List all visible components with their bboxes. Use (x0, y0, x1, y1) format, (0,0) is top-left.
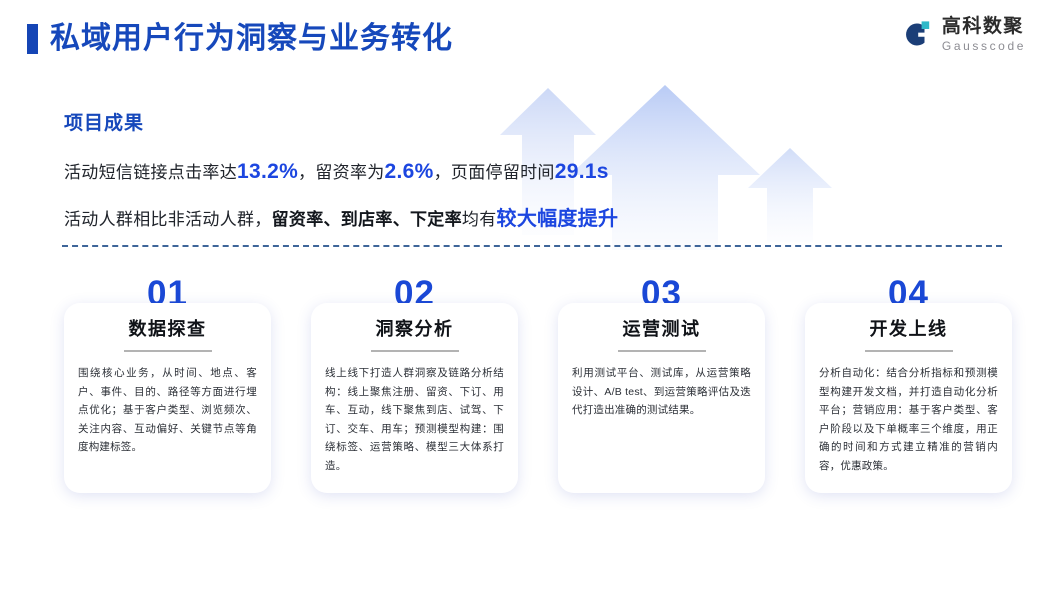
step-card-3[interactable]: 03 运营测试 利用测试平台、测试库，从运营策略设计、A/B test、到运营策… (558, 275, 765, 313)
logo-name-cn: 高科数聚 (942, 17, 1026, 36)
results-l1-text-3: ，页面停留时间 (434, 163, 555, 182)
metric-click-rate: 13.2% (237, 160, 298, 183)
slide-canvas: 私域用户行为洞察与业务转化 高科数聚 Gausscode 项目成果 活动短信链接… (0, 0, 1048, 591)
results-line-1: 活动短信链接点击率达13.2%，留资率为2.6%，页面停留时间29.1s (64, 157, 764, 188)
step-description-1: 围绕核心业务，从时间、地点、客户、事件、目的、路径等方面进行埋点优化；基于客户类… (78, 364, 257, 457)
step-description-4: 分析自动化：结合分析指标和预测模型构建开发文档，并打造自动化分析平台；营销应用：… (819, 364, 998, 475)
results-l1-text-2: ，留资率为 (298, 163, 385, 182)
step-title-4: 开发上线 (819, 317, 998, 341)
step-card-body-1[interactable]: 数据探查 围绕核心业务，从时间、地点、客户、事件、目的、路径等方面进行埋点优化；… (64, 303, 271, 493)
step-title-2: 洞察分析 (325, 317, 504, 341)
title-marker-icon (27, 24, 38, 54)
results-line-2: 活动人群相比非活动人群，留资率、到店率、下定率均有较大幅度提升 (64, 204, 764, 235)
step-card-body-3[interactable]: 运营测试 利用测试平台、测试库，从运营策略设计、A/B test、到运营策略评估… (558, 303, 765, 493)
step-card-body-4[interactable]: 开发上线 分析自动化：结合分析指标和预测模型构建开发文档，并打造自动化分析平台；… (805, 303, 1012, 493)
step-description-2: 线上线下打造人群洞察及链路分析结构：线上聚焦注册、留资、下订、用车、互动，线下聚… (325, 364, 504, 475)
step-title-rule-2 (371, 350, 459, 352)
step-card-1[interactable]: 01 数据探查 围绕核心业务，从时间、地点、客户、事件、目的、路径等方面进行埋点… (64, 275, 271, 313)
section-divider (62, 245, 1002, 247)
step-title-rule-4 (865, 350, 953, 352)
step-description-3: 利用测试平台、测试库，从运营策略设计、A/B test、到运营策略评估及迭代打造… (572, 364, 751, 420)
results-l2-text-2: 均有 (462, 210, 497, 229)
step-title-3: 运营测试 (572, 317, 751, 341)
results-heading: 项目成果 (64, 108, 764, 135)
brand-logo: 高科数聚 Gausscode (902, 17, 1026, 52)
step-title-rule-1 (124, 350, 212, 352)
logo-name-en: Gausscode (942, 40, 1026, 52)
page-title: 私域用户行为洞察与业务转化 (50, 19, 453, 59)
gausscode-logo-icon (902, 19, 933, 50)
results-l2-bold: 留资率、到店率、下定率 (272, 210, 462, 229)
results-l1-text-1: 活动短信链接点击率达 (64, 163, 237, 182)
step-card-2[interactable]: 02 洞察分析 线上线下打造人群洞察及链路分析结构：线上聚焦注册、留资、下订、用… (311, 275, 518, 313)
project-results-block: 项目成果 活动短信链接点击率达13.2%，留资率为2.6%，页面停留时间29.1… (64, 108, 764, 251)
step-card-4[interactable]: 04 开发上线 分析自动化：结合分析指标和预测模型构建开发文档，并打造自动化分析… (805, 275, 1012, 313)
step-title-rule-3 (618, 350, 706, 352)
slide-header: 私域用户行为洞察与业务转化 高科数聚 Gausscode (0, 0, 1048, 78)
metric-dwell-time: 29.1s (555, 160, 609, 183)
step-title-1: 数据探查 (78, 317, 257, 341)
steps-row: 01 数据探查 围绕核心业务，从时间、地点、客户、事件、目的、路径等方面进行埋点… (0, 275, 1048, 535)
metric-lead-rate: 2.6% (385, 160, 434, 183)
results-l2-highlight: 较大幅度提升 (497, 208, 619, 230)
results-l2-text-1: 活动人群相比非活动人群， (64, 210, 272, 229)
step-card-body-2[interactable]: 洞察分析 线上线下打造人群洞察及链路分析结构：线上聚焦注册、留资、下订、用车、互… (311, 303, 518, 493)
